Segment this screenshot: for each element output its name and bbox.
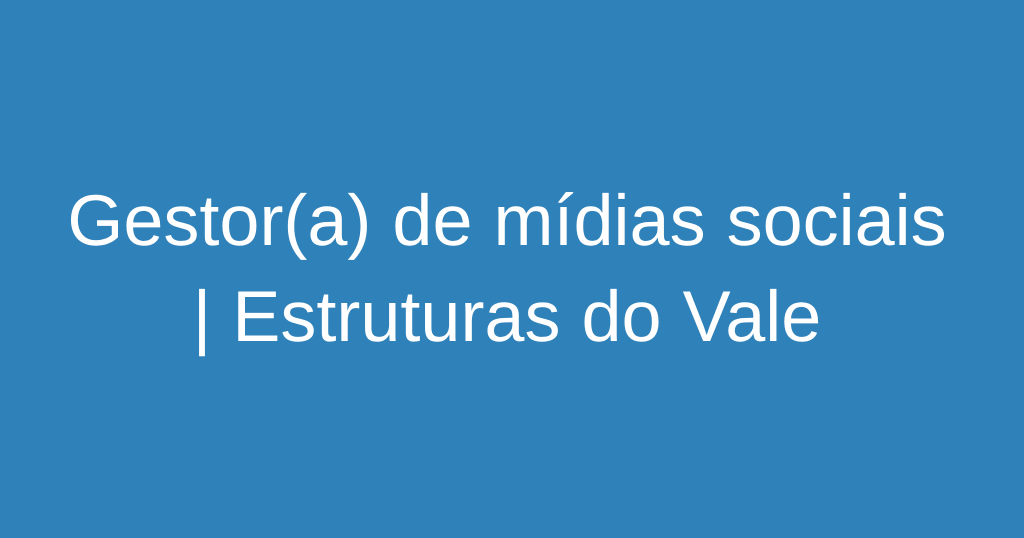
page-title: Gestor(a) de mídias sociais | Estruturas… [52,173,962,365]
title-block: Gestor(a) de mídias sociais | Estruturas… [52,173,972,365]
social-preview-card: Gestor(a) de mídias sociais | Estruturas… [0,0,1024,538]
